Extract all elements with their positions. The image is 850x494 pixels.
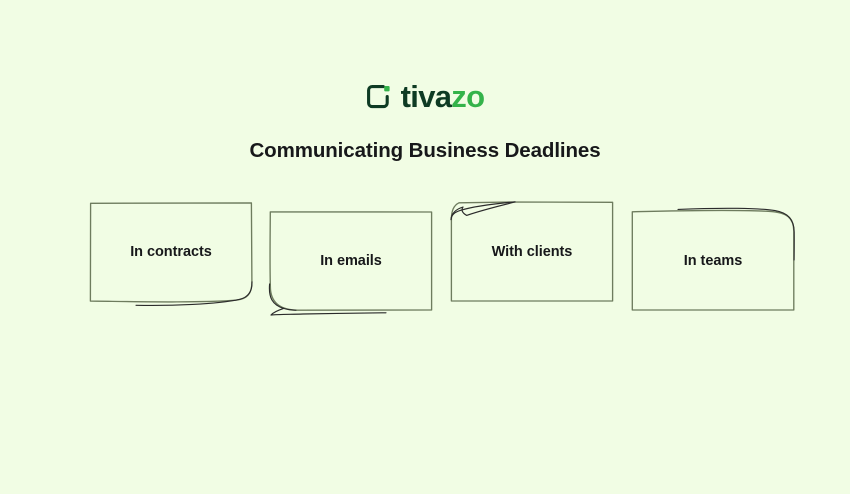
card-label: In emails	[270, 212, 432, 310]
card-in-teams[interactable]: In teams	[632, 212, 794, 310]
card-label: In contracts	[90, 203, 252, 301]
card-row: In contracts In emails With clients	[0, 0, 850, 494]
card-with-clients[interactable]: With clients	[451, 203, 613, 301]
card-in-emails[interactable]: In emails	[270, 212, 432, 310]
card-label: With clients	[451, 203, 613, 301]
slide-canvas: tivazo Communicating Business Deadlines …	[0, 0, 850, 494]
card-label: In teams	[632, 212, 794, 310]
card-in-contracts[interactable]: In contracts	[90, 203, 252, 301]
